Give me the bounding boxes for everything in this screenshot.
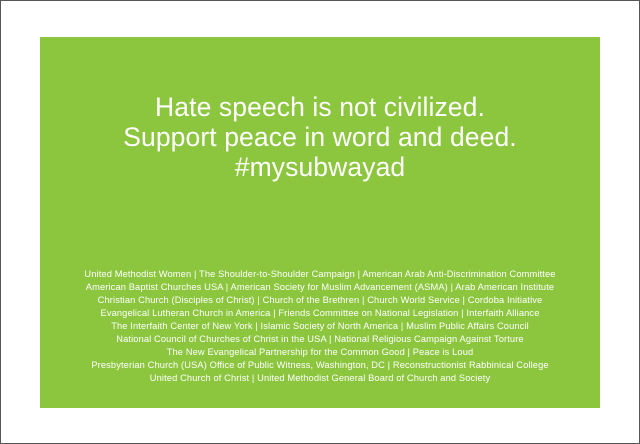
supporter-line: United Church of Christ | United Methodi… (40, 372, 600, 385)
supporter-line: United Methodist Women | The Shoulder-to… (40, 268, 600, 281)
supporter-line: The New Evangelical Partnership for the … (40, 346, 600, 359)
supporter-line: Christian Church (Disciples of Christ) |… (40, 294, 600, 307)
poster-headline: Hate speech is not civilized. Support pe… (40, 37, 600, 182)
poster-supporter-list: United Methodist Women | The Shoulder-to… (40, 268, 600, 385)
poster-green-panel: Hate speech is not civilized. Support pe… (40, 37, 600, 408)
headline-hashtag: #mysubwayad (40, 152, 600, 182)
poster-frame: Hate speech is not civilized. Support pe… (0, 0, 640, 444)
supporter-line: Presbyterian Church (USA) Office of Publ… (40, 359, 600, 372)
supporter-line: National Council of Churches of Christ i… (40, 333, 600, 346)
supporter-line: Evangelical Lutheran Church in America |… (40, 307, 600, 320)
headline-line-1: Hate speech is not civilized. (40, 92, 600, 122)
supporter-line: American Baptist Churches USA | American… (40, 281, 600, 294)
supporter-line: The Interfaith Center of New York | Isla… (40, 320, 600, 333)
headline-line-2: Support peace in word and deed. (40, 122, 600, 152)
